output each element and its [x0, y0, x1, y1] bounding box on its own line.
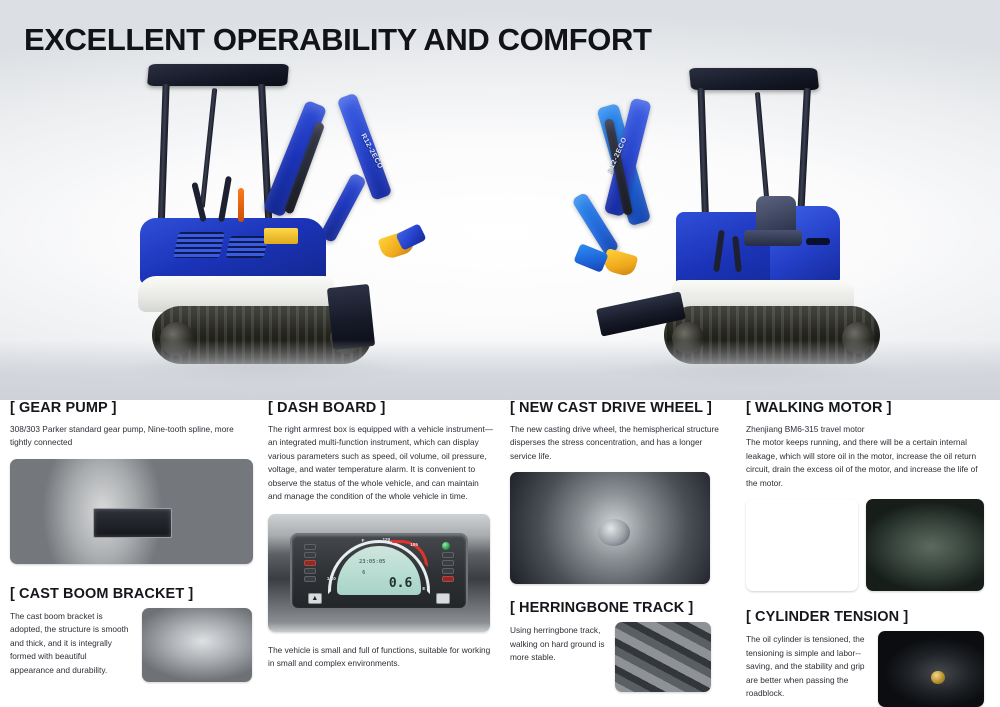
canopy-post-left-mid: [200, 88, 218, 208]
feature-body-cast-boom-bracket: The cast boom bracket is adopted, the st…: [10, 610, 132, 682]
hero-section: EXCELLENT OPERABILITY AND COMFORT R12-2E…: [0, 0, 1000, 400]
seat-base-right: [744, 230, 802, 246]
bucket-right: [602, 248, 639, 278]
right-indicator-bars: [442, 552, 454, 582]
indicator-bar-alert: [304, 560, 316, 566]
lcd-clock: 23:05:05: [359, 559, 386, 565]
feature-body-herringbone-track: Using herringbone track, walking on hard…: [510, 624, 605, 692]
power-led-icon: [442, 542, 450, 550]
feature-body-walking-motor-line1: Zhenjiang BM6-315 travel motor: [746, 423, 986, 436]
tick-label-e: E: [422, 586, 425, 591]
feature-title-walking-motor: [ WALKING MOTOR ]: [746, 400, 990, 416]
feature-body-gear-pump: 308/303 Parker standard gear pump, Nine-…: [10, 423, 242, 450]
features-section: [ GEAR PUMP ] 308/303 Parker standard ge…: [0, 400, 1000, 707]
indicator-bar: [442, 552, 454, 558]
feature-photo-cylinder-tension: [878, 631, 984, 707]
brochure-page: EXCELLENT OPERABILITY AND COMFORT R12-2E…: [0, 0, 1000, 707]
dipper-left: [319, 172, 367, 243]
page-title: EXCELLENT OPERABILITY AND COMFORT: [24, 22, 651, 58]
lcd-gauge-arc-redzone: [390, 540, 428, 566]
feature-photo-walking-motor-left: [746, 499, 858, 591]
indicator-bar: [304, 552, 316, 558]
feature-photo-herringbone-track: [615, 622, 711, 692]
feature-body-new-cast-drive-wheel: The new casting drive wheel, the hemisph…: [510, 423, 720, 463]
feature-body-walking-motor-line2: The motor keeps running, and there will …: [746, 436, 986, 490]
left-indicator-bars: [304, 544, 316, 582]
feature-column-3: [ NEW CAST DRIVE WHEEL ] The new casting…: [510, 400, 725, 692]
feature-photo-gear-pump: [10, 459, 253, 564]
feature-caption-dash-board: The vehicle is small and full of functio…: [268, 644, 494, 671]
feature-column-1: [ GEAR PUMP ] 308/303 Parker standard ge…: [10, 400, 253, 682]
feature-title-herringbone-track: [ HERRINGBONE TRACK ]: [510, 600, 725, 616]
indicator-bar: [442, 568, 454, 574]
feature-cast-boom-bracket: [ CAST BOOM BRACKET ] The cast boom brac…: [10, 586, 253, 682]
canopy-post-left-front: [157, 84, 169, 234]
lcd-main-value: 0.6: [389, 576, 412, 591]
feature-photo-cast-boom-bracket: [142, 608, 252, 682]
instrument-cluster: 23:05:05 6 0.6 F 120 105 1/10 E ▲: [290, 533, 468, 611]
indicator-bar: [442, 560, 454, 566]
warning-label-left: [264, 228, 298, 244]
engine-vent-left-2: [226, 236, 269, 258]
feature-title-cast-boom-bracket: [ CAST BOOM BRACKET ]: [10, 586, 253, 602]
tick-label-105: 105: [410, 542, 418, 547]
control-lever-left-2: [218, 176, 232, 222]
tick-label-fraction: 1/10: [327, 576, 336, 581]
feature-photo-dash-board: 23:05:05 6 0.6 F 120 105 1/10 E ▲: [268, 514, 490, 632]
mode-up-button[interactable]: ▲: [308, 593, 322, 604]
feature-body-cylinder-tension: The oil cylinder is tensioned, the tensi…: [746, 633, 868, 707]
feature-dash-board: [ DASH BOARD ] The right armrest box is …: [268, 400, 496, 671]
lcd-sub-value: 6: [362, 570, 365, 576]
feature-walking-motor: [ WALKING MOTOR ] Zhenjiang BM6-315 trav…: [746, 400, 990, 591]
tick-label-f: F: [362, 538, 365, 543]
feature-title-gear-pump: [ GEAR PUMP ]: [10, 400, 253, 416]
indicator-bar: [304, 576, 316, 582]
feature-body-dash-board: The right armrest box is equipped with a…: [268, 423, 494, 504]
canopy-roof-right: [689, 68, 819, 90]
feature-title-cylinder-tension: [ CYLINDER TENSION ]: [746, 609, 990, 625]
hero-bottom-fade: [0, 340, 1000, 400]
feature-cylinder-tension: [ CYLINDER TENSION ] The oil cylinder is…: [746, 609, 990, 707]
feature-photo-walking-motor-right: [866, 499, 984, 591]
feature-column-4: [ WALKING MOTOR ] Zhenjiang BM6-315 trav…: [746, 400, 990, 707]
control-lever-left-3: [238, 188, 244, 222]
select-button[interactable]: [436, 593, 450, 604]
canopy-post-right-mid: [755, 92, 770, 210]
lcd-display: 23:05:05 6 0.6: [337, 546, 420, 595]
canopy-roof-left: [147, 64, 289, 86]
feature-column-2: [ DASH BOARD ] The right armrest box is …: [268, 400, 496, 671]
indicator-bar-alert: [442, 576, 454, 582]
engine-vent-left: [173, 232, 225, 258]
feature-gear-pump: [ GEAR PUMP ] 308/303 Parker standard ge…: [10, 400, 253, 564]
feature-title-new-cast-drive-wheel: [ NEW CAST DRIVE WHEEL ]: [510, 400, 725, 416]
handle-slot-right: [806, 238, 830, 245]
feature-herringbone-track: [ HERRINGBONE TRACK ] Using herringbone …: [510, 600, 725, 692]
feature-photo-new-cast-drive-wheel: [510, 472, 710, 584]
feature-title-dash-board: [ DASH BOARD ]: [268, 400, 496, 416]
feature-new-cast-drive-wheel: [ NEW CAST DRIVE WHEEL ] The new casting…: [510, 400, 725, 584]
tick-label-120: 120: [382, 537, 390, 542]
indicator-bar: [304, 544, 316, 550]
indicator-bar: [304, 568, 316, 574]
